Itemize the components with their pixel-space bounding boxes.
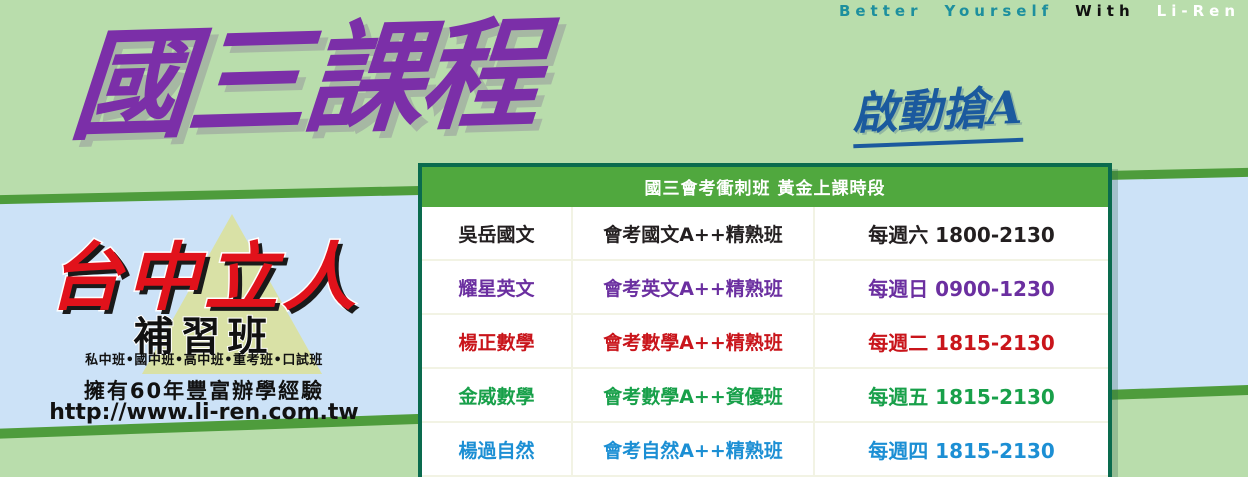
tagline: Better Yourself With Li-Ren bbox=[839, 2, 1240, 20]
cell-course-name: 會考自然A++精熟班 bbox=[572, 422, 814, 476]
schedule-table-body: 吳岳國文會考國文A++精熟班每週六 1800-2130耀星英文會考英文A++精熟… bbox=[422, 207, 1108, 477]
schedule-table: 國三會考衝刺班 黃金上課時段 吳岳國文會考國文A++精熟班每週六 1800-21… bbox=[422, 167, 1108, 477]
logo-class-list: 私中班•國中班•高中班•重考班•口試班 bbox=[26, 349, 382, 368]
cell-course-name: 會考數學A++精熟班 bbox=[572, 314, 814, 368]
page-subtitle: 啟動搶A bbox=[851, 71, 1024, 148]
cell-class-time: 每週二 1815-2130 bbox=[814, 314, 1108, 368]
cell-class-time: 每週五 1815-2130 bbox=[814, 368, 1108, 422]
cell-course-name: 會考國文A++精熟班 bbox=[572, 207, 814, 260]
cell-teacher-subject: 金威數學 bbox=[422, 368, 572, 422]
schedule-table-container: 國三會考衝刺班 黃金上課時段 吳岳國文會考國文A++精熟班每週六 1800-21… bbox=[418, 163, 1112, 477]
cell-course-name: 會考數學A++資優班 bbox=[572, 368, 814, 422]
cell-class-time: 每週日 0900-1230 bbox=[814, 260, 1108, 314]
promotional-banner: Better Yourself With Li-Ren 國三課程 啟動搶A 台中… bbox=[0, 0, 1248, 477]
table-row: 吳岳國文會考國文A++精熟班每週六 1800-2130 bbox=[422, 207, 1108, 260]
schedule-table-title: 國三會考衝刺班 黃金上課時段 bbox=[422, 167, 1108, 207]
cell-class-time: 每週四 1815-2130 bbox=[814, 422, 1108, 476]
table-row: 楊正數學會考數學A++精熟班每週二 1815-2130 bbox=[422, 314, 1108, 368]
tagline-word-with: With bbox=[1075, 2, 1135, 20]
cell-teacher-subject: 耀星英文 bbox=[422, 260, 572, 314]
cell-teacher-subject: 楊過自然 bbox=[422, 422, 572, 476]
cell-teacher-subject: 楊正數學 bbox=[422, 314, 572, 368]
table-row: 耀星英文會考英文A++精熟班每週日 0900-1230 bbox=[422, 260, 1108, 314]
cell-teacher-subject: 吳岳國文 bbox=[422, 207, 572, 260]
logo-website-url[interactable]: http://www.li-ren.com.tw bbox=[26, 400, 382, 425]
schedule-table-header-row: 國三會考衝刺班 黃金上課時段 bbox=[422, 167, 1108, 207]
tagline-word-better: Better bbox=[839, 2, 923, 20]
cell-course-name: 會考英文A++精熟班 bbox=[572, 260, 814, 314]
table-row: 金威數學會考數學A++資優班每週五 1815-2130 bbox=[422, 368, 1108, 422]
tagline-word-liren: Li-Ren bbox=[1157, 2, 1240, 20]
cell-class-time: 每週六 1800-2130 bbox=[814, 207, 1108, 260]
table-row: 楊過自然會考自然A++精熟班每週四 1815-2130 bbox=[422, 422, 1108, 476]
school-logo: 台中立人 補習班 私中班•國中班•高中班•重考班•口試班 擁有60年豐富辦學經驗… bbox=[24, 212, 384, 427]
tagline-word-yourself: Yourself bbox=[944, 2, 1053, 20]
page-title: 國三課程 bbox=[67, 12, 542, 151]
